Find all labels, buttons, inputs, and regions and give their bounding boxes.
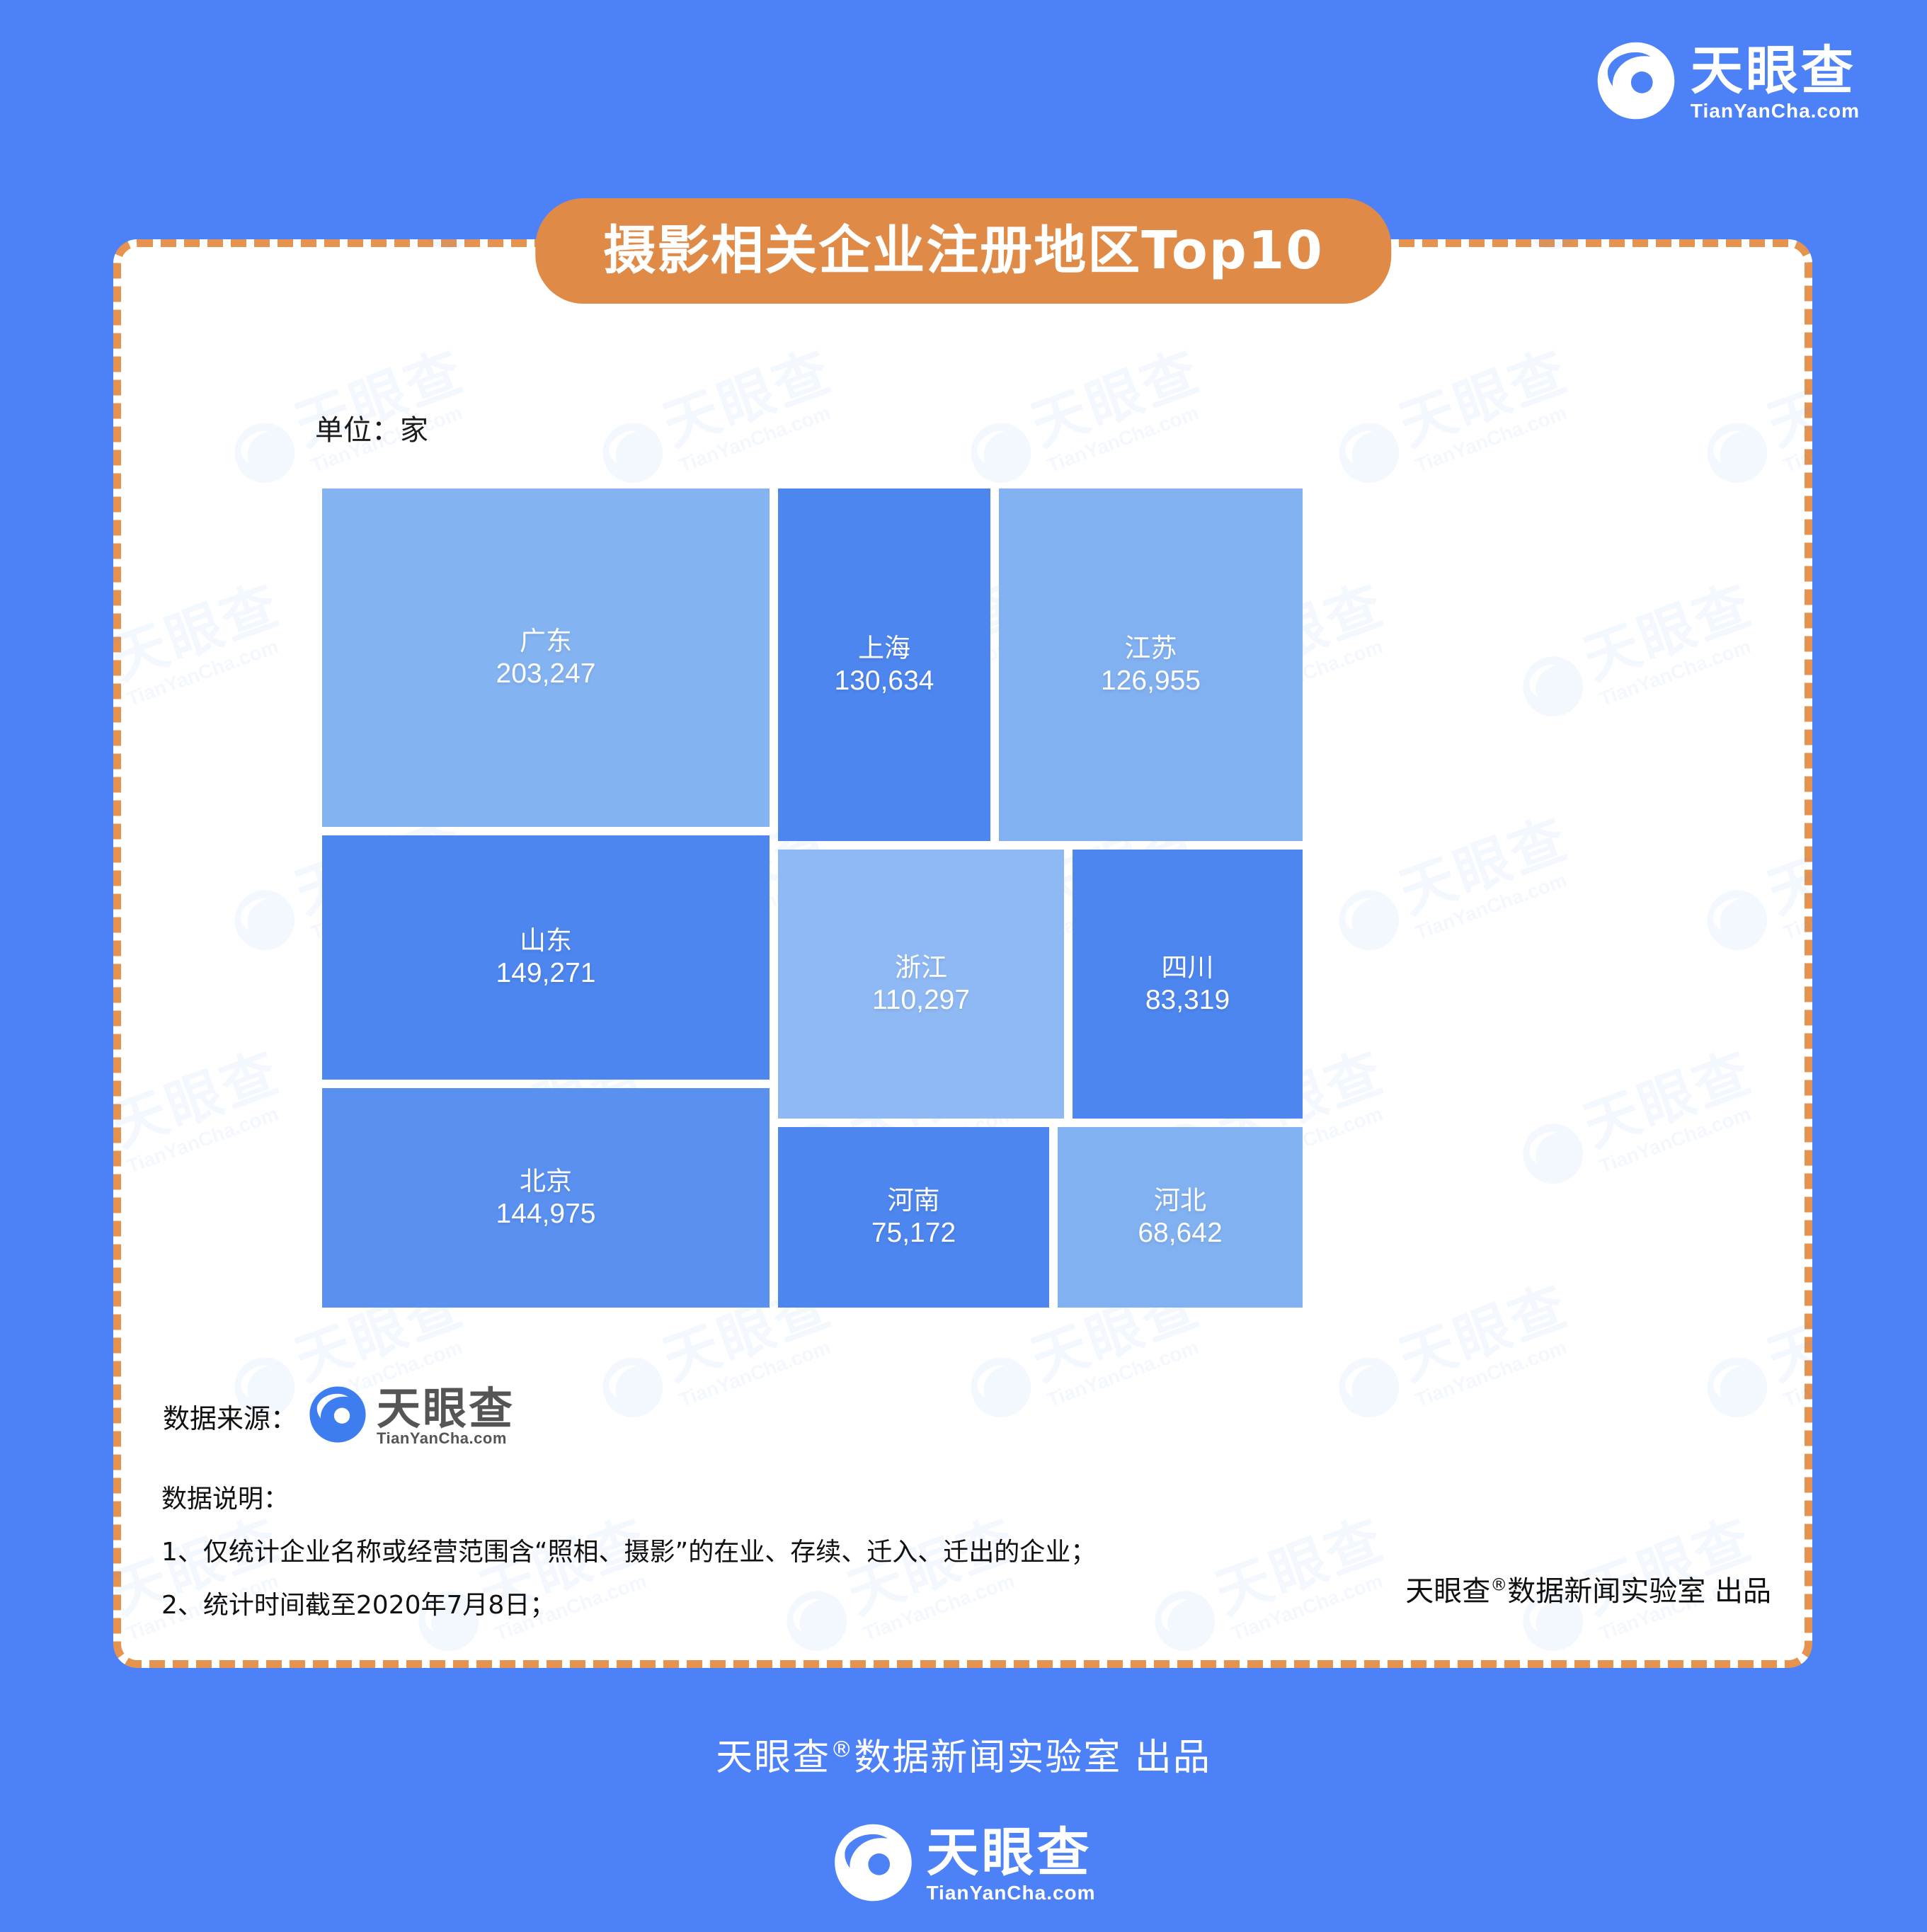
treemap-cell-name: 山东 <box>520 925 572 956</box>
treemap-cell-value: 126,955 <box>1101 664 1201 698</box>
treemap-cell[interactable]: 北京144,975 <box>322 1088 770 1308</box>
watermark: 天眼查TianYanCha.com <box>1693 0 1927 33</box>
treemap-cell-name: 广东 <box>520 625 572 657</box>
watermark: 天眼查TianYanCha.com <box>1877 1044 1927 1202</box>
credit-prefix: 天眼查 <box>1405 1575 1490 1608</box>
brand-logo-source: 天眼查 TianYanCha.com <box>307 1384 515 1448</box>
credit-bottom-registered-icon: ® <box>830 1737 854 1763</box>
brand-logo-bottom: 天眼查 TianYanCha.com <box>831 1821 1095 1908</box>
treemap-cell[interactable]: 河北68,642 <box>1058 1127 1303 1308</box>
treemap-cell-name: 上海 <box>858 632 910 664</box>
brand-logo-top: 天眼查 TianYanCha.com <box>1594 39 1860 126</box>
treemap-cell-value: 130,634 <box>835 664 934 698</box>
data-source-label: 数据来源： <box>163 1397 297 1436</box>
notes-title: 数据说明： <box>161 1483 1096 1515</box>
page-title: 摄影相关企业注册地区Top10 <box>603 219 1323 282</box>
treemap-cell[interactable]: 江苏126,955 <box>999 488 1303 841</box>
treemap-cell[interactable]: 山东149,271 <box>322 835 770 1080</box>
brand-logo-bottom-text: 天眼查 TianYanCha.com <box>926 1827 1095 1903</box>
title-banner: 摄影相关企业注册地区Top10 <box>535 198 1391 304</box>
watermark: 天眼查TianYanCha.com <box>1877 576 1927 735</box>
data-source-row: 数据来源： 天眼查 TianYanCha.com <box>163 1384 515 1448</box>
treemap-cell-value: 75,172 <box>871 1216 956 1250</box>
aperture-lens-icon <box>307 1384 368 1448</box>
watermark: 天眼查TianYanCha.com <box>0 810 111 968</box>
brand-logo-cn: 天眼查 <box>1691 45 1856 97</box>
brand-logo-en: TianYanCha.com <box>1691 101 1860 121</box>
treemap-cell-name: 四川 <box>1162 951 1214 983</box>
brand-logo-text: 天眼查 TianYanCha.com <box>1691 45 1860 121</box>
brand-logo-source-text: 天眼查 TianYanCha.com <box>377 1387 515 1446</box>
treemap-cell-value: 110,297 <box>872 983 970 1017</box>
credit-suffix: 数据新闻实验室 出品 <box>1507 1575 1771 1608</box>
treemap-cell-value: 203,247 <box>496 657 596 691</box>
credit-registered-icon: ® <box>1490 1575 1507 1595</box>
treemap-cell[interactable]: 广东203,247 <box>322 488 770 827</box>
treemap-cell-value: 149,271 <box>496 956 596 990</box>
treemap-cell[interactable]: 四川83,319 <box>1073 850 1303 1119</box>
treemap-cell-name: 浙江 <box>895 951 947 983</box>
data-notes: 数据说明： 1、仅统计企业名称或经营范围含“照相、摄影”的在业、存续、迁入、迁出… <box>161 1483 1096 1642</box>
unit-label: 单位：家 <box>315 407 428 448</box>
note-item-1: 1、仅统计企业名称或经营范围含“照相、摄影”的在业、存续、迁入、迁出的企业； <box>161 1536 1096 1568</box>
treemap-cell[interactable]: 上海130,634 <box>778 488 990 841</box>
credit-bottom-suffix: 数据新闻实验室 出品 <box>854 1737 1211 1779</box>
watermark: 天眼查TianYanCha.com <box>1877 1511 1927 1669</box>
watermark: 天眼查TianYanCha.com <box>0 1277 111 1436</box>
treemap-cell-value: 68,642 <box>1138 1216 1222 1250</box>
credit-bottom-prefix: 天眼查 <box>716 1737 830 1779</box>
note-item-2: 2、统计时间截至2020年7月8日； <box>161 1589 1096 1621</box>
treemap-cell[interactable]: 浙江110,297 <box>778 850 1064 1119</box>
treemap-cell-value: 144,975 <box>496 1197 596 1231</box>
treemap-chart: 广东203,247上海130,634江苏126,955山东149,271浙江11… <box>322 488 1303 1308</box>
brand-logo-bottom-cn: 天眼查 <box>926 1827 1092 1879</box>
watermark: 天眼查TianYanCha.com <box>220 0 479 33</box>
credit-bottom: 天眼查®数据新闻实验室 出品 <box>0 1727 1927 1780</box>
brand-logo-source-cn: 天眼查 <box>377 1387 515 1431</box>
watermark: 天眼查TianYanCha.com <box>0 0 111 33</box>
watermark: 天眼查TianYanCha.com <box>1325 0 1583 33</box>
treemap-cell-value: 83,319 <box>1145 983 1230 1017</box>
watermark: 天眼查TianYanCha.com <box>956 0 1215 33</box>
aperture-lens-icon <box>831 1821 915 1908</box>
treemap-cell[interactable]: 河南75,172 <box>778 1127 1049 1308</box>
treemap-cell-name: 江苏 <box>1125 632 1177 664</box>
aperture-lens-icon <box>1594 39 1678 126</box>
treemap-cell-name: 河北 <box>1154 1184 1206 1216</box>
credit-inline: 天眼查®数据新闻实验室 出品 <box>1405 1568 1771 1609</box>
brand-logo-source-en: TianYanCha.com <box>377 1431 515 1446</box>
treemap-cell-name: 北京 <box>520 1165 572 1197</box>
watermark: 天眼查TianYanCha.com <box>588 0 847 33</box>
watermark: 天眼查TianYanCha.com <box>0 343 111 501</box>
treemap-cell-name: 河南 <box>888 1184 940 1216</box>
watermark: 天眼查TianYanCha.com <box>1877 109 1927 268</box>
brand-logo-bottom-en: TianYanCha.com <box>926 1883 1095 1903</box>
